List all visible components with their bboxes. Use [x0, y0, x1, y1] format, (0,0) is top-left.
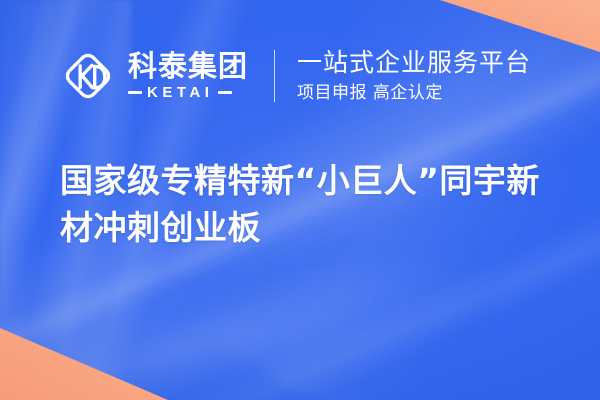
ketai-diamond-monogram-icon — [60, 48, 116, 104]
header-divider — [274, 50, 275, 102]
promo-banner: 科泰集团 KETAI 一站式企业服务平台 项目申报 高企认定 国家级专精特新“小… — [0, 0, 600, 400]
brand-name-en-row: KETAI — [128, 85, 248, 100]
brand-name-en: KETAI — [147, 85, 213, 100]
headline-text: 国家级专精特新“小巨人”同宇新材冲刺创业板 — [60, 158, 560, 252]
brand-wordmark: 科泰集团 KETAI — [128, 52, 248, 100]
tagline-block: 一站式企业服务平台 项目申报 高企认定 — [297, 49, 531, 103]
logo-d-letter — [95, 66, 105, 87]
tagline-sub: 项目申报 高企认定 — [297, 83, 531, 103]
wordmark-dash-right-icon — [218, 91, 232, 94]
brand-header: 科泰集团 KETAI 一站式企业服务平台 项目申报 高企认定 — [60, 44, 531, 108]
wordmark-dash-left-icon — [128, 91, 142, 94]
tagline-main: 一站式企业服务平台 — [297, 49, 531, 78]
brand-name-cn: 科泰集团 — [128, 52, 248, 82]
